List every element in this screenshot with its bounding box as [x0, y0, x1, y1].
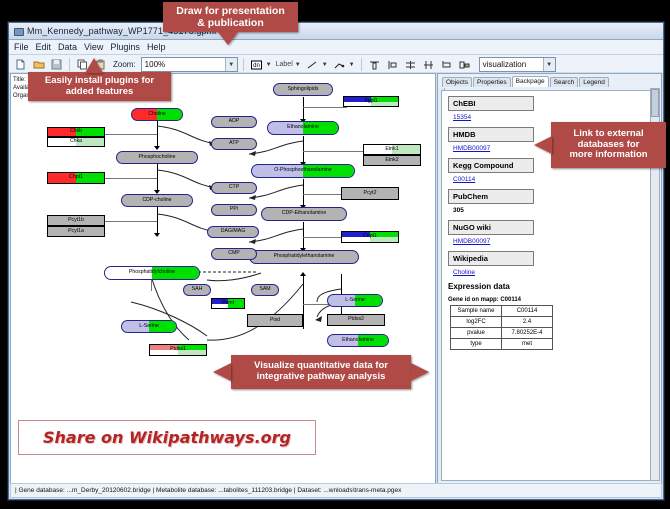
node-sam[interactable]: SAM: [251, 284, 279, 296]
node-ethanolamine-bottom[interactable]: Ethanolamine: [327, 334, 389, 347]
align-left-icon[interactable]: [385, 57, 400, 72]
order-icon[interactable]: [457, 57, 472, 72]
node-ptdss1[interactable]: Ptdss1: [149, 344, 207, 356]
toolbar-separator-1: [69, 58, 70, 71]
node-cmp[interactable]: CMP: [211, 248, 257, 260]
callout-draw-arrow-icon: [218, 32, 238, 45]
chevron-down-icon: ▼: [225, 58, 237, 71]
table-row: log2FC 2.4: [451, 317, 553, 328]
node-ctp[interactable]: CTP: [211, 182, 257, 194]
menu-item-file[interactable]: File: [14, 42, 29, 52]
open-file-icon[interactable]: [31, 57, 46, 72]
callout-links-arrow-icon: [534, 136, 552, 154]
node-phosphatidylcholine[interactable]: Phosphatidylcholine: [104, 266, 200, 280]
node-pcyt1b[interactable]: Pcyt1b: [47, 215, 105, 226]
db-header-chebi: ChEBI: [448, 96, 534, 111]
menu-item-plugins[interactable]: Plugins: [110, 42, 140, 52]
db-link-kegg[interactable]: C00114: [453, 176, 650, 183]
node-ppi[interactable]: PPi: [211, 204, 257, 216]
callout-visualize: Visualize quantitative data for integrat…: [231, 355, 411, 389]
node-etnk2[interactable]: Etnk2: [363, 155, 421, 166]
db-link-wikipedia[interactable]: Choline: [453, 269, 650, 276]
interaction-icon[interactable]: [332, 57, 347, 72]
callout-draw: Draw for presentation & publication: [163, 2, 298, 32]
callout-links: Link to external databases for more info…: [551, 122, 666, 168]
cell-label: pvalue: [451, 328, 502, 339]
node-choline-top[interactable]: Choline: [131, 108, 183, 121]
visualization-value: visualization: [483, 60, 527, 69]
tab-backpage[interactable]: Backpage: [512, 76, 549, 87]
db-value-pubchem: 305: [453, 207, 650, 214]
cell-label: log2FC: [451, 317, 502, 328]
cell-label: type: [451, 339, 502, 350]
node-adp[interactable]: ADP: [211, 116, 257, 128]
cell-value: 7.80252E-4: [502, 328, 553, 339]
node-cept1[interactable]: Cept1: [341, 231, 399, 243]
menu-item-edit[interactable]: Edit: [36, 42, 52, 52]
distribute-vertical-icon[interactable]: [403, 57, 418, 72]
scrollbar-thumb[interactable]: [651, 89, 659, 117]
save-file-icon[interactable]: [49, 57, 64, 72]
screenshot-root: Mm_Kennedy_pathway_WP1771_45176.gpml Fil…: [0, 0, 670, 509]
node-phosphocholine[interactable]: Phosphocholine: [116, 151, 198, 164]
callout-plugins: Easily install plugins for added feature…: [28, 72, 171, 101]
share-text: Share on Wikipathways.org: [43, 428, 291, 447]
node-cdp-ethanolamine[interactable]: CDP-Ethanolamine: [261, 207, 347, 221]
node-l-serine-left[interactable]: L-Serine: [121, 320, 177, 333]
label-button[interactable]: Label: [276, 61, 293, 68]
datanode-dropdown-icon[interactable]: ▼: [266, 62, 272, 68]
expression-data-title: Expression data: [448, 282, 650, 291]
table-row: Sample name C00114: [451, 306, 553, 317]
callout-visualize-arrow-right-icon: [411, 363, 429, 381]
db-header-nugo: NuGO wiki: [448, 220, 534, 235]
db-link-chebi[interactable]: 15354: [453, 114, 650, 121]
db-link-nugo[interactable]: HMDB00097: [453, 238, 650, 245]
window-titlebar: Mm_Kennedy_pathway_WP1771_45176.gpml: [9, 23, 663, 40]
tab-legend[interactable]: Legend: [579, 77, 609, 87]
zoom-select[interactable]: 100% ▼: [141, 57, 238, 72]
node-l-serine-right[interactable]: L-Serine: [327, 294, 383, 307]
node-pisd[interactable]: Pisd: [247, 314, 303, 327]
callout-plugins-arrow-icon: [85, 58, 103, 73]
menu-item-help[interactable]: Help: [147, 42, 166, 52]
node-chka[interactable]: Chka: [47, 137, 105, 147]
new-file-icon[interactable]: [13, 57, 28, 72]
db-header-wikipedia: Wikipedia: [448, 251, 534, 266]
node-phosphatidylethanolamine[interactable]: Phosphatidylethanolamine: [249, 250, 359, 264]
cell-value: C00114: [502, 306, 553, 317]
line-dropdown-icon[interactable]: ▼: [322, 62, 328, 68]
statusbar-text: | Gene database: ...m_Derby_20120602.bri…: [15, 487, 401, 494]
callout-visualize-arrow-icon: [213, 363, 231, 381]
menu-item-view[interactable]: View: [84, 42, 103, 52]
tab-objects[interactable]: Objects: [442, 77, 472, 87]
cell-label: Sample name: [451, 306, 502, 317]
app-icon: [13, 26, 23, 36]
visualization-select[interactable]: visualization ▼: [479, 57, 556, 72]
node-chkb[interactable]: Chkb: [47, 127, 105, 137]
node-ptdss2[interactable]: Ptdss2: [327, 314, 385, 326]
expression-table: Sample name C00114 log2FC 2.4 pvalue 7.8…: [450, 305, 553, 350]
toolbar-separator-3: [361, 58, 362, 71]
node-ethanolamine[interactable]: Ethanolamine: [267, 121, 339, 135]
table-row: pvalue 7.80252E-4: [451, 328, 553, 339]
toolbar-separator-2: [243, 58, 244, 71]
zoom-value: 100%: [145, 60, 165, 69]
interaction-dropdown-icon[interactable]: ▼: [349, 62, 355, 68]
svg-text:dn: dn: [253, 63, 260, 69]
node-atp[interactable]: ATP: [211, 138, 257, 150]
menu-item-data[interactable]: Data: [58, 42, 77, 52]
db-header-kegg: Kegg Compound: [448, 158, 534, 173]
gene-id-on-mapp: Gene id on mapp: C00114: [448, 297, 650, 303]
statusbar: | Gene database: ...m_Derby_20120602.bri…: [10, 483, 662, 498]
group-icon[interactable]: [439, 57, 454, 72]
node-pemt[interactable]: Pemt: [211, 298, 245, 309]
node-pcyt1a[interactable]: Pcyt1a: [47, 226, 105, 237]
menubar: File Edit Data View Plugins Help: [9, 40, 663, 55]
line-icon[interactable]: [305, 57, 320, 72]
node-sah[interactable]: SAH: [183, 284, 211, 296]
node-etnk1[interactable]: Etnk1: [363, 144, 421, 155]
datanode-icon[interactable]: dn: [249, 57, 264, 72]
node-o-phosphoethanolamine[interactable]: O-Phosphoethanolamine: [251, 164, 355, 178]
node-sgpl1[interactable]: Sgpl1: [343, 96, 399, 107]
db-header-pubchem: PubChem: [448, 189, 534, 204]
node-sphingolipids[interactable]: Sphingolipids: [273, 83, 333, 96]
align-top-icon[interactable]: [367, 57, 382, 72]
cell-value: 2.4: [502, 317, 553, 328]
node-dagmag[interactable]: DAG/MAG: [207, 226, 259, 238]
distribute-horizontal-icon[interactable]: [421, 57, 436, 72]
node-pcyt2[interactable]: Pcyt2: [341, 187, 399, 200]
side-tabs: Objects Properties Backpage Search Legen…: [438, 76, 661, 87]
cell-value: met: [502, 339, 553, 350]
db-header-hmdb: HMDB: [448, 127, 534, 142]
node-cdp-choline[interactable]: CDP-choline: [121, 194, 193, 207]
tab-properties[interactable]: Properties: [473, 77, 511, 87]
table-row: type met: [451, 339, 553, 350]
label-dropdown-icon[interactable]: ▼: [295, 62, 301, 68]
zoom-label: Zoom:: [113, 60, 136, 69]
visualization-chevron-icon: ▼: [543, 58, 555, 71]
callout-share: Share on Wikipathways.org: [18, 420, 316, 455]
node-chpt1[interactable]: Chpt1: [47, 172, 105, 184]
tab-search[interactable]: Search: [550, 77, 579, 87]
